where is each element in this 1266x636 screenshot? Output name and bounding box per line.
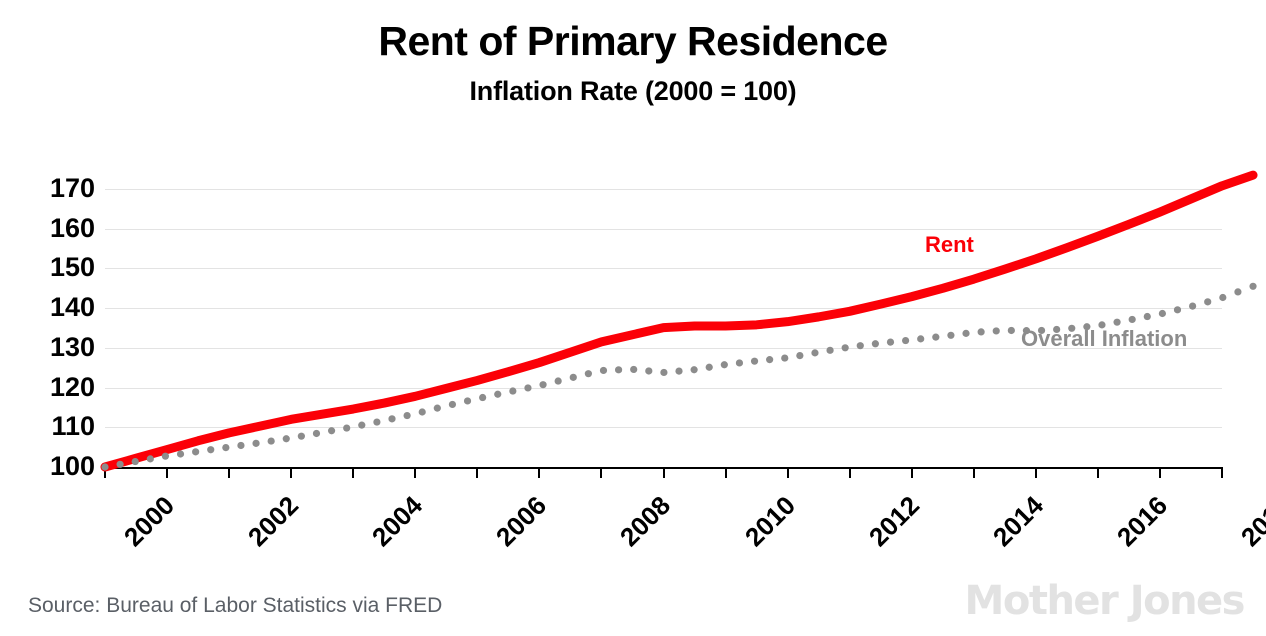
inflation-data-dot: [268, 437, 275, 444]
inflation-data-dot: [524, 384, 531, 391]
inflation-data-dot: [751, 358, 758, 365]
inflation-data-dot: [1189, 302, 1196, 309]
inflation-data-dot: [1204, 298, 1211, 305]
inflation-data-dot: [947, 332, 954, 339]
inflation-data-dot: [660, 369, 667, 376]
chart-root: Rent of Primary Residence Inflation Rate…: [0, 0, 1266, 636]
inflation-data-dot: [630, 366, 637, 373]
inflation-data-dot: [917, 335, 924, 342]
inflation-data-dot: [1129, 316, 1136, 323]
series-layer: [0, 0, 1266, 636]
inflation-data-dot: [796, 352, 803, 359]
inflation-data-dot: [962, 330, 969, 337]
inflation-data-dot: [1008, 327, 1015, 334]
inflation-data-dot: [539, 381, 546, 388]
inflation-data-dot: [645, 367, 652, 374]
inflation-data-dot: [313, 430, 320, 437]
inflation-data-dot: [283, 435, 290, 442]
inflation-data-dot: [192, 448, 199, 455]
inflation-data-dot: [434, 405, 441, 412]
inflation-data-dot: [826, 347, 833, 354]
inflation-data-dot: [147, 455, 154, 462]
inflation-data-dot: [117, 461, 124, 468]
inflation-data-dot: [494, 391, 501, 398]
inflation-data-dot: [1249, 283, 1256, 290]
inflation-data-dot: [585, 370, 592, 377]
inflation-data-dot: [177, 450, 184, 457]
inflation-data-dot: [675, 367, 682, 374]
inflation-data-dot: [600, 367, 607, 374]
inflation-data-dot: [328, 427, 335, 434]
inflation-data-dot: [207, 446, 214, 453]
inflation-data-dot: [343, 424, 350, 431]
inflation-data-dot: [978, 328, 985, 335]
inflation-data-dot: [857, 342, 864, 349]
inflation-data-dot: [1159, 310, 1166, 317]
inflation-data-dot: [811, 349, 818, 356]
inflation-data-dot: [615, 366, 622, 373]
inflation-data-dot: [781, 354, 788, 361]
inflation-data-dot: [252, 440, 259, 447]
source-note: Source: Bureau of Labor Statistics via F…: [28, 594, 442, 618]
inflation-data-dot: [570, 374, 577, 381]
rent-series-label: Rent: [925, 232, 974, 258]
inflation-data-dot: [1174, 306, 1181, 313]
inflation-data-dot: [902, 337, 909, 344]
inflation-series-label: Overall Inflation: [1021, 326, 1187, 352]
inflation-data-dot: [404, 412, 411, 419]
inflation-data-dot: [1219, 294, 1226, 301]
mother-jones-logo: Mother Jones: [965, 578, 1244, 624]
inflation-data-dot: [706, 364, 713, 371]
inflation-data-dot: [373, 418, 380, 425]
inflation-data-dot: [358, 422, 365, 429]
inflation-data-dot: [162, 453, 169, 460]
inflation-data-dot: [887, 338, 894, 345]
inflation-data-dot: [993, 327, 1000, 334]
inflation-data-dot: [388, 415, 395, 422]
inflation-data-dot: [736, 359, 743, 366]
inflation-data-dot: [1144, 313, 1151, 320]
inflation-data-dot: [872, 340, 879, 347]
inflation-data-dot: [132, 458, 139, 465]
inflation-data-dot: [766, 356, 773, 363]
inflation-data-dot: [842, 344, 849, 351]
inflation-data-dot: [555, 377, 562, 384]
inflation-data-dot: [721, 361, 728, 368]
rent-series-line: [105, 175, 1253, 467]
inflation-data-dot: [1113, 319, 1120, 326]
inflation-series-dots: [101, 283, 1256, 471]
inflation-data-dot: [222, 444, 229, 451]
inflation-data-dot: [449, 401, 456, 408]
inflation-data-dot: [691, 366, 698, 373]
inflation-data-dot: [101, 463, 108, 470]
inflation-data-dot: [419, 408, 426, 415]
inflation-data-dot: [298, 433, 305, 440]
inflation-data-dot: [932, 334, 939, 341]
inflation-data-dot: [237, 442, 244, 449]
inflation-data-dot: [479, 394, 486, 401]
inflation-data-dot: [509, 387, 516, 394]
inflation-data-dot: [464, 397, 471, 404]
inflation-data-dot: [1234, 288, 1241, 295]
